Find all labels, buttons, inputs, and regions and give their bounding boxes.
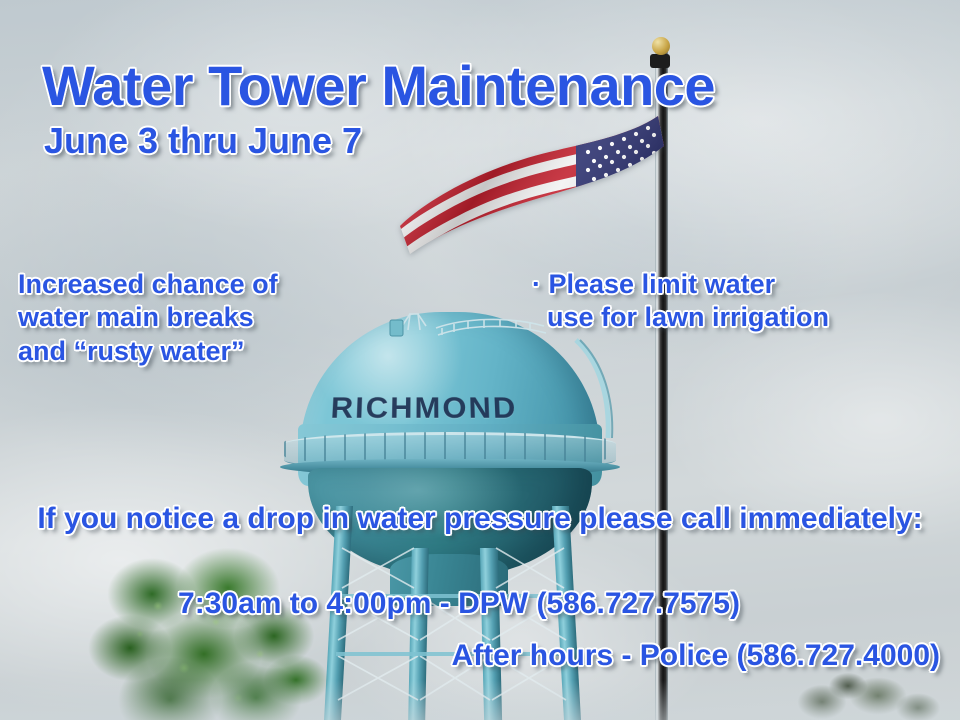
flagpole-finial-ball-icon [652, 37, 670, 55]
us-flag-icon [396, 108, 668, 258]
poster-image: RICHMOND [0, 0, 960, 720]
tower-label-richmond: RICHMOND [299, 391, 550, 426]
page-title: Water Tower Maintenance [42, 56, 715, 115]
left-advisory-note: Increased chance of water main breaks an… [18, 268, 278, 368]
date-range-subtitle: June 3 thru June 7 [44, 122, 362, 160]
ground-haze [0, 680, 960, 720]
phone-police-line: After hours - Police (586.727.4000) [0, 640, 940, 672]
right-advisory-note: · Please limit water use for lawn irriga… [532, 268, 829, 335]
call-instruction-text: If you notice a drop in water pressure p… [0, 500, 960, 538]
phone-dpw-line: 7:30am to 4:00pm - DPW (586.727.7575) [0, 588, 918, 620]
